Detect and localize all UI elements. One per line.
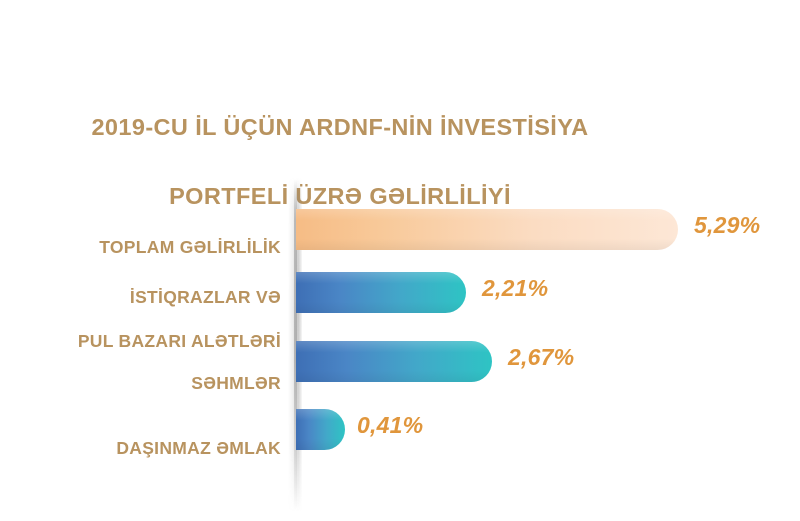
bar-row: TOPLAM GƏLİRLİLİK 5,29% — [0, 209, 800, 250]
category-label: İSTİQRAZLAR VƏ PUL BAZARI ALƏTLƏRİ — [0, 264, 281, 352]
bar-sehmler[interactable] — [296, 341, 492, 382]
value-label: 2,21% — [482, 275, 548, 302]
bar-row: İSTİQRAZLAR VƏ PUL BAZARI ALƏTLƏRİ 2,21% — [0, 272, 800, 313]
category-label-line: TOPLAM GƏLİRLİLİK — [99, 237, 281, 257]
category-label: DAŞINMAZ ƏMLAK — [0, 415, 281, 459]
bar-row: SƏHMLƏR 2,67% — [0, 341, 800, 382]
bar-plot-area: TOPLAM GƏLİRLİLİK 5,29% İSTİQRAZLAR VƏ P… — [0, 0, 800, 521]
bar-row: DAŞINMAZ ƏMLAK 0,41% — [0, 409, 800, 450]
value-label: 2,67% — [508, 344, 574, 371]
bar-track — [296, 409, 345, 450]
bar-dasinmaz-emlak[interactable] — [296, 409, 345, 450]
category-label: SƏHMLƏR — [0, 350, 281, 394]
bar-toplam-gelirlilik[interactable] — [296, 209, 678, 250]
category-label-line: SƏHMLƏR — [191, 373, 281, 393]
value-label: 5,29% — [694, 212, 760, 239]
category-label-line: İSTİQRAZLAR VƏ — [130, 287, 281, 307]
bar-track — [296, 209, 678, 250]
category-label: TOPLAM GƏLİRLİLİK — [0, 214, 281, 258]
category-label-line: DAŞINMAZ ƏMLAK — [116, 438, 281, 458]
chart-root: 2019-CU İL ÜÇÜN ARDNF-NİN İNVESTİSİYA PO… — [0, 0, 800, 521]
value-label: 0,41% — [357, 412, 423, 439]
bar-istiqrazlar-ve-pul-bazari-aletleri[interactable] — [296, 272, 466, 313]
bar-track — [296, 272, 466, 313]
bar-track — [296, 341, 492, 382]
